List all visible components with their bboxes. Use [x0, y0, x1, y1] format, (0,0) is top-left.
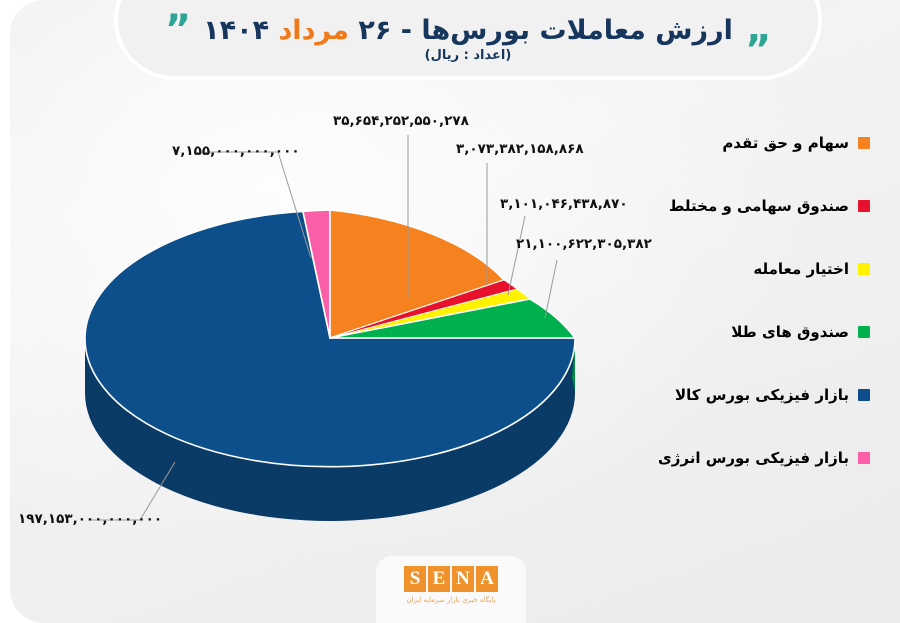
legend-item-energy-market[interactable]: بازار فیزیکی بورس انرژی: [674, 447, 870, 469]
callout-value-commodity-market: ۱۹۷,۱۵۳,۰۰۰,۰۰۰,۰۰۰: [18, 511, 162, 527]
logo-letter-s: S: [404, 566, 426, 592]
legend-swatch-energy-market: [858, 452, 870, 464]
legend-label-gold-funds: صندوق های طلا: [731, 323, 849, 341]
legend-swatch-mixed-fund: [858, 200, 870, 212]
logo-letter-a: A: [476, 566, 498, 592]
legend-label-shares: سهام و حق تقدم: [722, 134, 849, 152]
pie-chart-svg: [0, 90, 660, 560]
legend-label-commodity-market: بازار فیزیکی بورس کالا: [675, 386, 849, 404]
callout-value-options: ۳,۱۰۱,۰۴۶,۴۳۸,۸۷۰: [500, 196, 628, 212]
callout-value-mixed-fund: ۳,۰۷۳,۳۸۲,۱۵۸,۸۶۸: [456, 141, 584, 157]
leader-line-gold-funds: [545, 260, 557, 318]
page-title-highlight: مرداد: [278, 15, 348, 46]
legend-item-mixed-fund[interactable]: صندوق سهامی و مختلط: [674, 195, 870, 217]
legend-label-mixed-fund: صندوق سهامی و مختلط: [669, 197, 849, 215]
logo-letter-n: N: [452, 566, 474, 592]
leader-line-options: [508, 216, 525, 295]
legend-item-commodity-market[interactable]: بازار فیزیکی بورس کالا: [674, 384, 870, 406]
page-title-year: ۱۴۰۴: [203, 15, 278, 46]
legend-swatch-shares: [858, 137, 870, 149]
pie-chart: [0, 90, 660, 560]
sena-logo-letters: S E N A: [376, 566, 526, 592]
callout-value-gold-funds: ۲۱,۱۰۰,۶۲۲,۳۰۵,۳۸۲: [516, 236, 652, 252]
legend-item-shares[interactable]: سهام و حق تقدم: [674, 132, 870, 154]
legend-swatch-options: [858, 263, 870, 275]
callout-value-shares: ۳۵,۶۵۴,۲۵۲,۵۵۰,۲۷۸: [333, 113, 469, 129]
callout-value-energy-market: ۷,۱۵۵,۰۰۰,۰۰۰,۰۰۰: [172, 143, 300, 159]
legend-item-gold-funds[interactable]: صندوق های طلا: [674, 321, 870, 343]
page-subtitle: (اعداد : ریال): [118, 48, 818, 63]
legend-swatch-commodity-market: [858, 389, 870, 401]
sena-logo[interactable]: S E N A پایگاه خبری بازار سرمایه ایران: [376, 566, 526, 604]
infographic-root: “ ارزش معاملات بورس‌ها - ۲۶ مرداد ۱۴۰۴ ”…: [0, 0, 900, 623]
quote-close-icon: ”: [165, 10, 189, 50]
legend-label-options: اختیار معامله: [753, 260, 849, 278]
page-title: ارزش معاملات بورس‌ها - ۲۶ مرداد ۱۴۰۴: [203, 15, 733, 46]
quote-open-icon: “: [747, 10, 771, 50]
legend-label-energy-market: بازار فیزیکی بورس انرژی: [658, 449, 849, 467]
legend-swatch-gold-funds: [858, 326, 870, 338]
sena-logo-subtitle: پایگاه خبری بازار سرمایه ایران: [376, 596, 526, 604]
header-title-row: “ ارزش معاملات بورس‌ها - ۲۶ مرداد ۱۴۰۴ ”: [118, 8, 818, 52]
chart-legend: سهام و حق تقدم صندوق سهامی و مختلط اختیا…: [674, 132, 870, 510]
logo-letter-e: E: [428, 566, 450, 592]
legend-item-options[interactable]: اختیار معامله: [674, 258, 870, 280]
pie-top-face: [85, 210, 575, 467]
page-title-main: ارزش معاملات بورس‌ها - ۲۶: [349, 15, 733, 46]
